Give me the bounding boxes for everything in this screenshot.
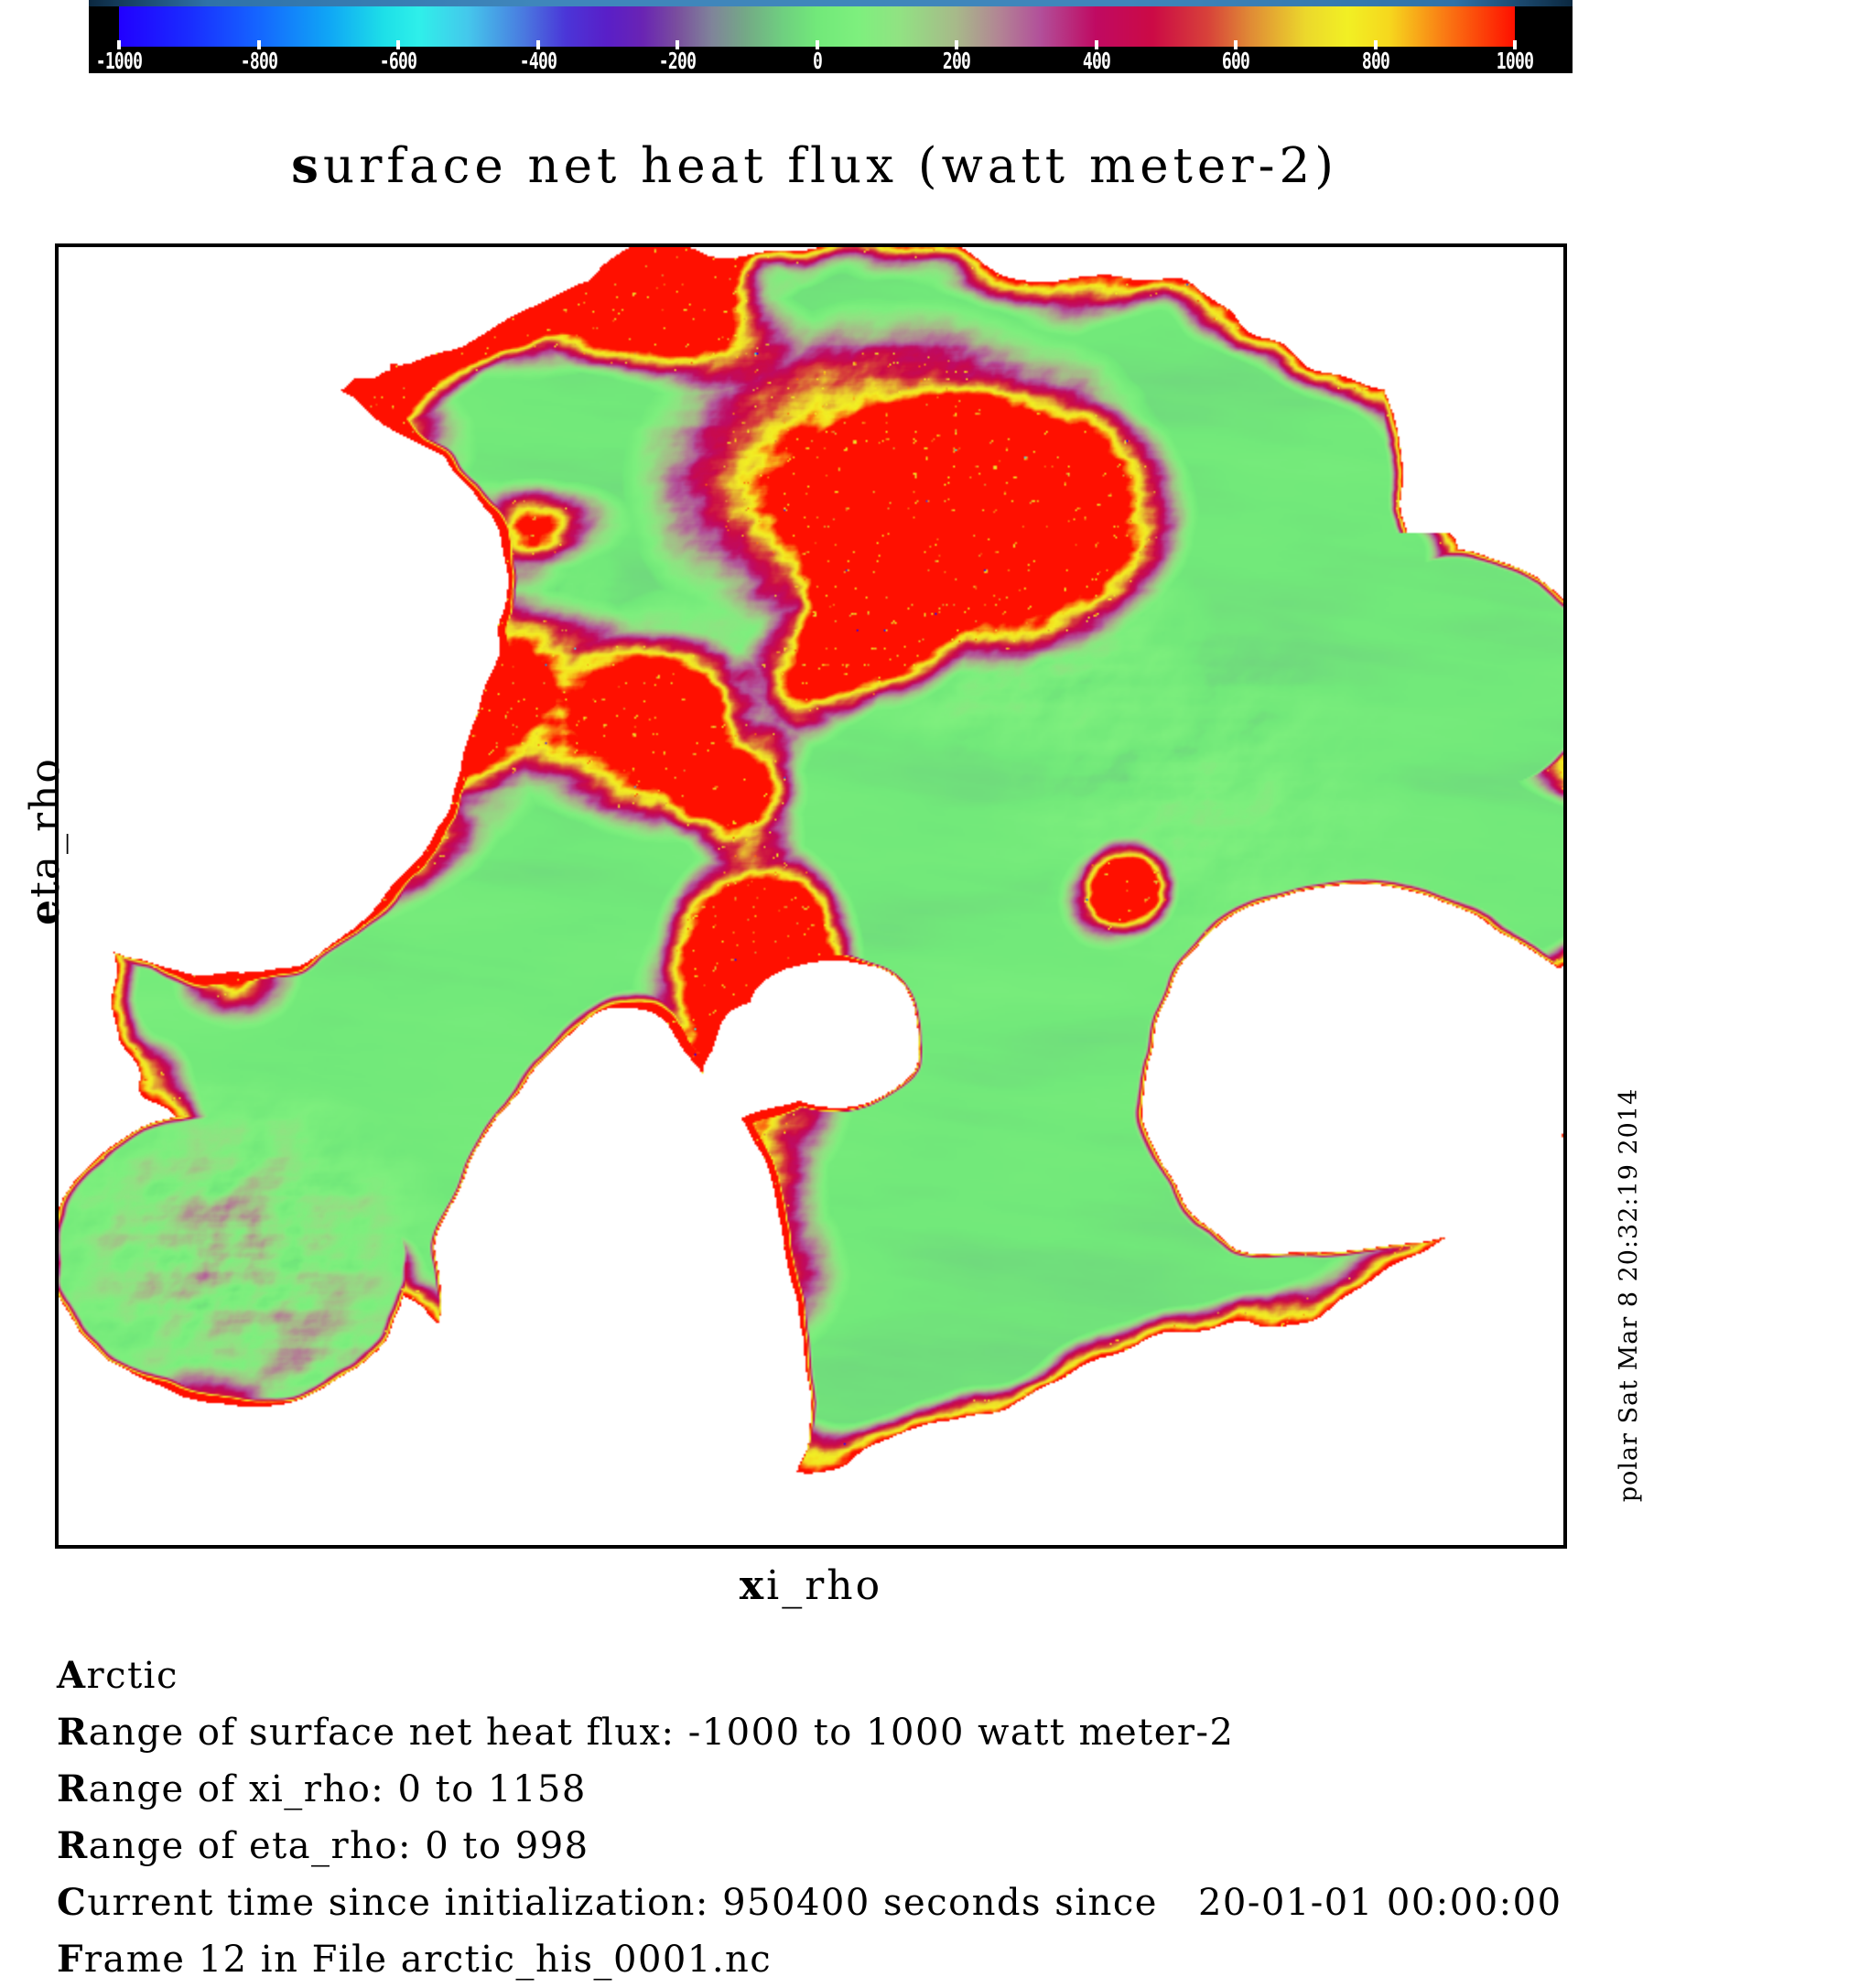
colorbar-tick-label: -200 [611,49,743,73]
info-line-xi-range: Range of xi_rho: 0 to 1158 [57,1761,1851,1818]
page-title-rest: urface net heat flux (watt meter-2) [323,138,1338,194]
colorbar-top-accent-line [89,0,1573,6]
x-axis-label-lead-cap: x [740,1562,766,1609]
heatmap-field [59,247,1563,1545]
info-line-frame-file-cap: F [57,1938,84,1981]
map-plot-frame [55,243,1567,1549]
colorbar-tick-label: -400 [472,49,604,73]
info-line-eta-range-rest: ange of eta_rho: 0 to 998 [89,1825,589,1867]
info-line-current-time-rest: urrent time since initialization: 950400… [87,1882,1158,1924]
info-line-region-rest: rctic [87,1655,178,1697]
info-line-xi-range-rest: ange of xi_rho: 0 to 1158 [89,1768,587,1810]
x-axis-label: xi_rho [55,1563,1567,1609]
info-line-flux-range-rest: ange of surface net heat flux: -1000 to … [89,1712,1235,1754]
info-line-xi-range-cap: R [57,1767,89,1810]
colorbar-tick-label: 600 [1170,49,1302,73]
info-block: Arctic Range of surface net heat flux: -… [57,1648,1851,1988]
info-line-eta-range: Range of eta_rho: 0 to 998 [57,1818,1851,1875]
colorbar: -1000-800-600-400-20002004006008001000 [89,0,1573,73]
colorbar-tick-label: 400 [1031,49,1162,73]
colorbar-tick-label: 200 [891,49,1022,73]
colorbar-tick-labels: -1000-800-600-400-20002004006008001000 [89,49,1573,73]
colorbar-tick-label: -600 [332,49,464,73]
page-title: surface net heat flux (watt meter-2) [0,137,1629,195]
info-line-current-time: Current time since initialization: 95040… [57,1875,1851,1931]
colorbar-tick-label: 0 [751,49,883,73]
info-line-time-origin: 20-01-01 00:00:00 [1198,1882,1562,1924]
page-title-lead-cap: s [291,137,323,194]
colorbar-tick-label: -1000 [53,49,185,73]
timestamp-stamp: polar Sat Mar 8 20:32:19 2014 [1616,1021,1643,1570]
info-line-eta-range-cap: R [57,1824,89,1867]
info-line-flux-range: Range of surface net heat flux: -1000 to… [57,1704,1851,1761]
info-line-region-cap: A [57,1654,87,1697]
colorbar-tick-label: 1000 [1449,49,1581,73]
y-axis-label-lead-cap: e [22,898,69,925]
colorbar-tick-label: -800 [193,49,325,73]
x-axis-label-rest: i_rho [766,1562,882,1609]
y-axis-label: eta_rho [24,740,68,942]
colorbar-tick-label: 800 [1310,49,1442,73]
info-line-frame-file-rest: rame 12 in File arctic_his_0001.nc [84,1939,772,1981]
info-line-region: Arctic [57,1648,1851,1704]
info-line-frame-file: Frame 12 in File arctic_his_0001.nc [57,1931,1851,1988]
info-line-flux-range-cap: R [57,1711,89,1754]
y-axis-label-rest: ta_rho [22,757,69,898]
info-line-current-time-cap: C [57,1881,87,1924]
